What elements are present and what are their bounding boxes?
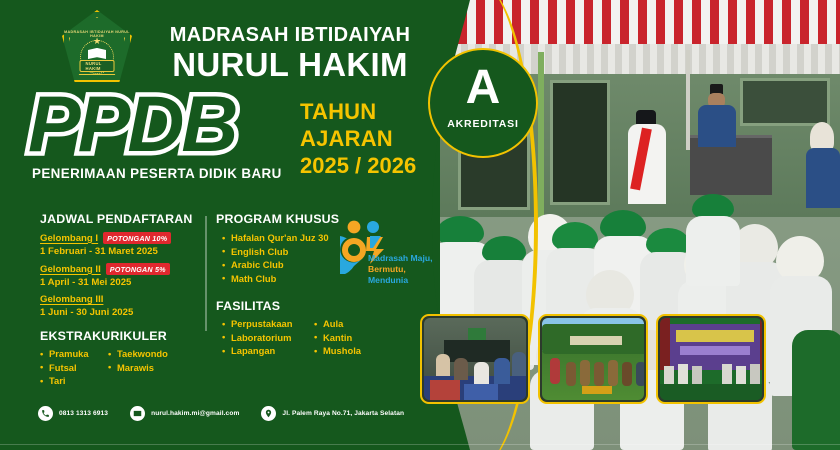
wave-discount-badge: POTONGAN 5% — [106, 263, 170, 275]
ppdb-title: PPDB — [28, 84, 282, 163]
facilities-col1: Perpustakaan Laboratorium Lapangan — [222, 317, 314, 358]
location-pin-icon — [261, 406, 276, 421]
contact-bar: 0813 1313 6913 nurul.hakim.mi@gmail.com … — [0, 402, 440, 424]
academic-year-line1: TAHUN — [300, 98, 416, 125]
ppdb-subtitle: PENERIMAAN PESERTA DIDIK BARU — [32, 166, 282, 181]
facilities-lists: Perpustakaan Laboratorium Lapangan Aula … — [222, 313, 436, 358]
mm-line1: Madrasah Maju, — [368, 253, 432, 264]
contact-email-text: nurul.hakim.mi@gmail.com — [151, 410, 239, 417]
accreditation-label: AKREDITASI — [428, 118, 538, 130]
school-name-line2: NURUL HAKIM — [145, 47, 435, 83]
madrasah-emblem-icon: MADRASAH IBTIDAIYAH NURUL HAKIM ★ NURUL … — [62, 10, 132, 82]
list-item: Lapangan — [222, 344, 314, 358]
list-item: Laboratorium — [222, 331, 314, 345]
school-name-line1: MADRASAH IBTIDAIYAH — [145, 24, 435, 46]
thumbnail-computer-lab — [420, 314, 530, 404]
wave-name: Gelombang II — [40, 264, 101, 275]
school-header: MADRASAH IBTIDAIYAH NURUL HAKIM ★ NURUL … — [0, 10, 440, 82]
school-name: MADRASAH IBTIDAIYAH NURUL HAKIM — [145, 24, 435, 83]
academic-year: TAHUN AJARAN 2025 / 2026 — [300, 98, 416, 179]
facilities-title: FASILITAS — [216, 299, 436, 313]
list-item: Mushola — [314, 344, 361, 358]
mm-line3: Mendunia — [368, 275, 432, 286]
photo-thumbnails — [420, 314, 766, 404]
ppdb-hero: PPDB PENERIMAAN PESERTA DIDIK BARU — [28, 84, 282, 181]
thumbnail-scouts-group — [538, 314, 648, 404]
phone-icon — [38, 406, 53, 421]
wave-row: Gelombang II POTONGAN 5% — [40, 263, 205, 275]
wave-dates: 1 April - 31 Mei 2025 — [40, 277, 205, 288]
extracurricular-title: EKSTRAKURIKULER — [40, 329, 205, 343]
wave-row: Gelombang I POTONGAN 10% — [40, 232, 205, 244]
madrasah-maju-text: Madrasah Maju, Bermutu, Mendunia — [368, 253, 432, 286]
accreditation-badge: A AKREDITASI — [428, 48, 538, 158]
schedule-title: JADWAL PENDAFTARAN — [40, 212, 205, 226]
column-divider — [205, 216, 207, 331]
list-item: Marawis — [108, 361, 168, 375]
wave-dates: 1 Juni - 30 Juni 2025 — [40, 307, 205, 318]
envelope-icon — [130, 406, 145, 421]
list-item: Aula — [314, 317, 361, 331]
wave-discount-badge: POTONGAN 10% — [103, 232, 171, 244]
contact-phone-text: 0813 1313 6913 — [59, 410, 108, 417]
list-item: Kantin — [314, 331, 361, 345]
contact-address[interactable]: Jl. Palem Raya No.71, Jakarta Selatan — [261, 406, 404, 421]
academic-year-line2: AJARAN — [300, 125, 416, 152]
wave-name: Gelombang III — [40, 294, 103, 305]
wave-dates: 1 Februari - 31 Maret 2025 — [40, 246, 205, 257]
list-item: Perpustakaan — [222, 317, 314, 331]
wave-name: Gelombang I — [40, 233, 98, 244]
mm-line2: Bermutu, — [368, 264, 432, 275]
contact-email[interactable]: nurul.hakim.mi@gmail.com — [130, 406, 239, 421]
extracurricular-lists: Pramuka Futsal Tari Taekwondo Marawis — [40, 343, 205, 388]
list-item: Pramuka — [40, 347, 108, 361]
extracurricular-col2: Taekwondo Marawis — [108, 347, 168, 388]
bottom-divider — [0, 444, 840, 446]
facilities-col2: Aula Kantin Mushola — [314, 317, 361, 358]
thumbnail-stage-performance — [656, 314, 766, 404]
list-item: Tari — [40, 374, 108, 388]
academic-year-value: 2025 / 2026 — [300, 152, 416, 179]
contact-address-text: Jl. Palem Raya No.71, Jakarta Selatan — [282, 410, 404, 417]
ppdb-banner: MADRASAH IBTIDAIYAH NURUL HAKIM ★ NURUL … — [0, 0, 840, 450]
list-item: Taekwondo — [108, 347, 168, 361]
extracurricular-col1: Pramuka Futsal Tari — [40, 347, 108, 388]
accreditation-grade: A — [428, 62, 538, 114]
contact-phone[interactable]: 0813 1313 6913 — [38, 406, 108, 421]
wave-row: Gelombang III — [40, 294, 205, 305]
list-item: Futsal — [40, 361, 108, 375]
madrasah-maju-logo: Madrasah Maju, Bermutu, Mendunia — [340, 218, 440, 288]
emblem-banner-text: NURUL HAKIM — [80, 60, 115, 72]
schedule-column: JADWAL PENDAFTARAN Gelombang I POTONGAN … — [40, 212, 205, 388]
